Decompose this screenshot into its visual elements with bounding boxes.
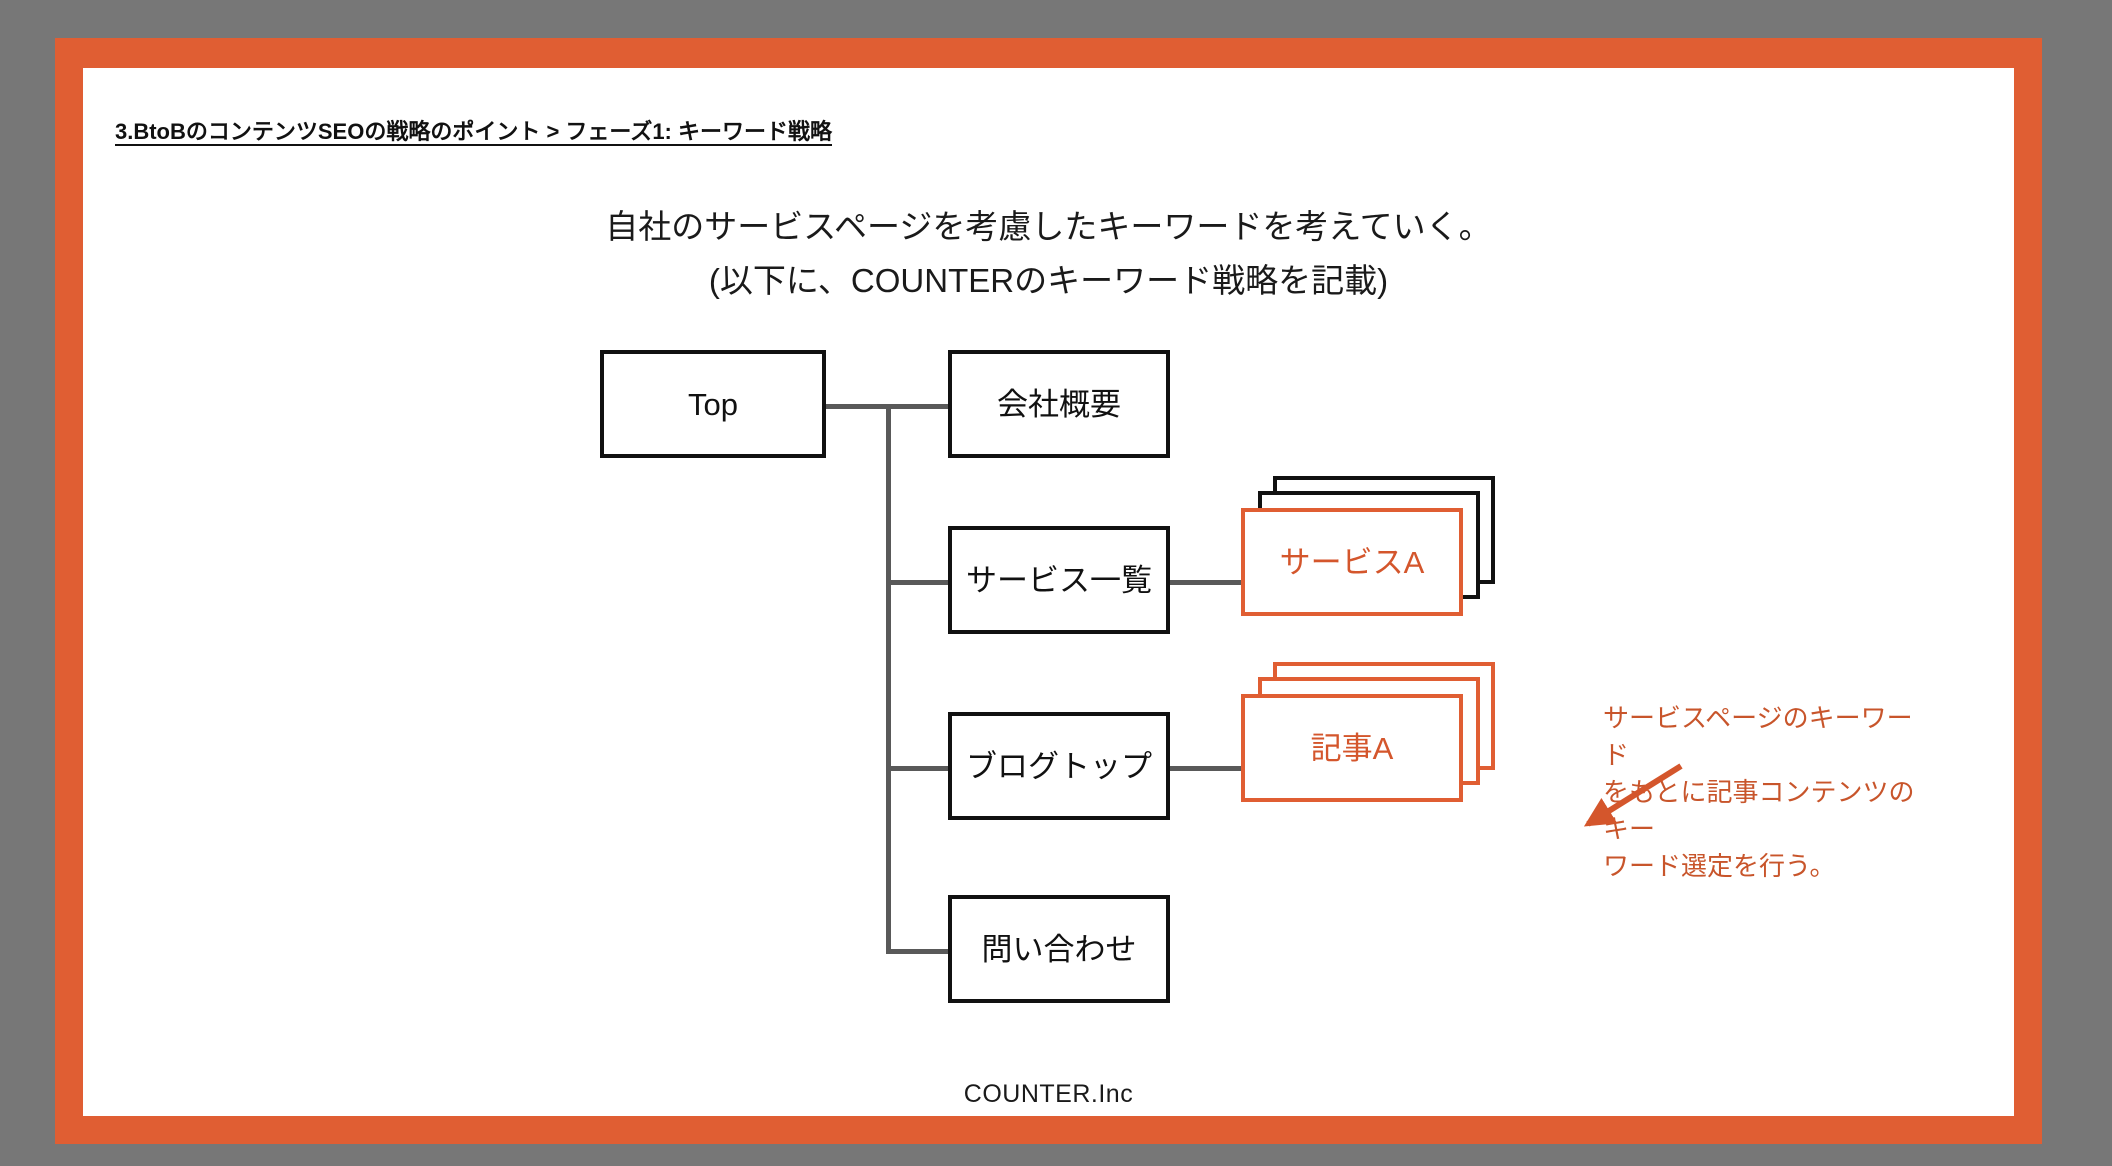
node-service-list[interactable]: サービス一覧 <box>948 526 1170 634</box>
node-article-a-label: 記事A <box>1311 733 1394 764</box>
slide-footer-brand: COUNTER.Inc <box>83 1080 2014 1109</box>
node-contact[interactable]: 問い合わせ <box>948 895 1170 1003</box>
annotation-arrow-icon <box>1503 728 1733 868</box>
node-blog-top-label: ブログトップ <box>966 751 1152 782</box>
node-company-overview-label: 会社概要 <box>997 389 1121 420</box>
node-contact-label: 問い合わせ <box>982 934 1137 965</box>
slide-viewer: 3.BtoBのコンテンツSEOの戦略のポイント > フェーズ1: キーワード戦略… <box>0 0 2112 1166</box>
node-service-list-label: サービス一覧 <box>966 565 1152 596</box>
node-service-a-label: サービスA <box>1280 547 1425 578</box>
connector-spine-to-company <box>886 404 951 409</box>
connector-spine-to-blog <box>886 766 951 771</box>
node-top-label: Top <box>688 389 738 420</box>
site-structure-diagram: Top 会社概要 サービス一覧 サービスA ブログトップ <box>83 68 2014 1116</box>
slide-orange-frame: 3.BtoBのコンテンツSEOの戦略のポイント > フェーズ1: キーワード戦略… <box>55 38 2042 1144</box>
node-article-a[interactable]: 記事A <box>1241 694 1463 802</box>
connector-spine-to-contact <box>886 949 951 954</box>
connector-vertical-spine <box>886 404 891 954</box>
node-company-overview[interactable]: 会社概要 <box>948 350 1170 458</box>
node-top[interactable]: Top <box>600 350 826 458</box>
node-blog-top[interactable]: ブログトップ <box>948 712 1170 820</box>
connector-top-to-spine <box>823 404 891 409</box>
node-service-a[interactable]: サービスA <box>1241 508 1463 616</box>
connector-spine-to-service <box>886 580 951 585</box>
slide-canvas: 3.BtoBのコンテンツSEOの戦略のポイント > フェーズ1: キーワード戦略… <box>83 68 2014 1116</box>
